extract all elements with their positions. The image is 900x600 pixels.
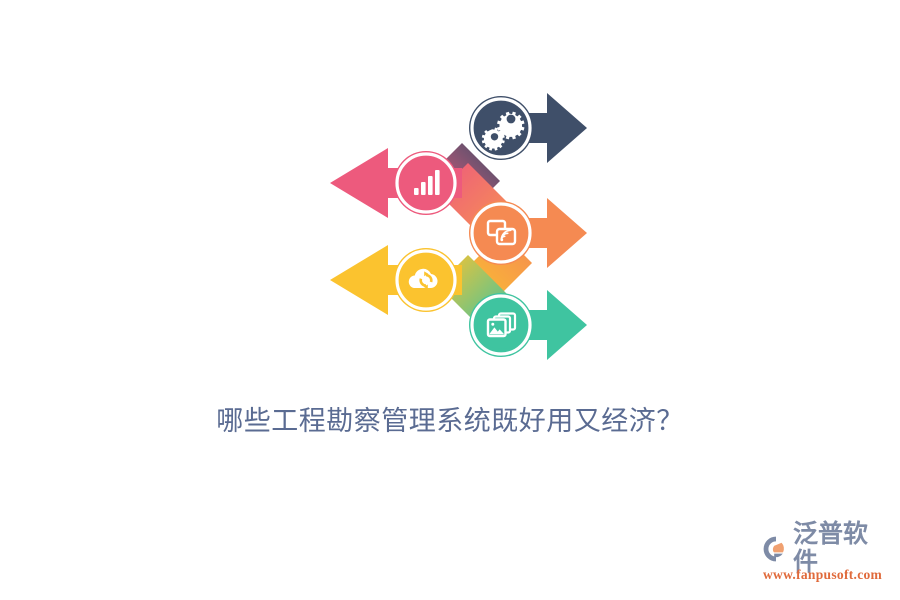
infographic-graphic: [325, 85, 610, 370]
page-title: 哪些工程勘察管理系统既好用又经济？: [0, 402, 900, 440]
node-gears[interactable]: [469, 96, 533, 160]
node-bar-chart[interactable]: [394, 151, 458, 215]
node-screen-cast[interactable]: [469, 201, 533, 265]
fanpu-logo-icon: [762, 535, 790, 563]
brand-url: www.fanpusoft.com: [762, 566, 892, 584]
brand-logo: 泛普软件 www.fanpusoft.com: [762, 533, 892, 589]
node-photos[interactable]: [469, 293, 533, 357]
brand-row: 泛普软件: [762, 533, 892, 565]
page-root: 哪些工程勘察管理系统既好用又经济？ 泛普软件 www.fanpusoft.com: [0, 0, 900, 600]
node-cloud-sync[interactable]: [394, 248, 458, 312]
